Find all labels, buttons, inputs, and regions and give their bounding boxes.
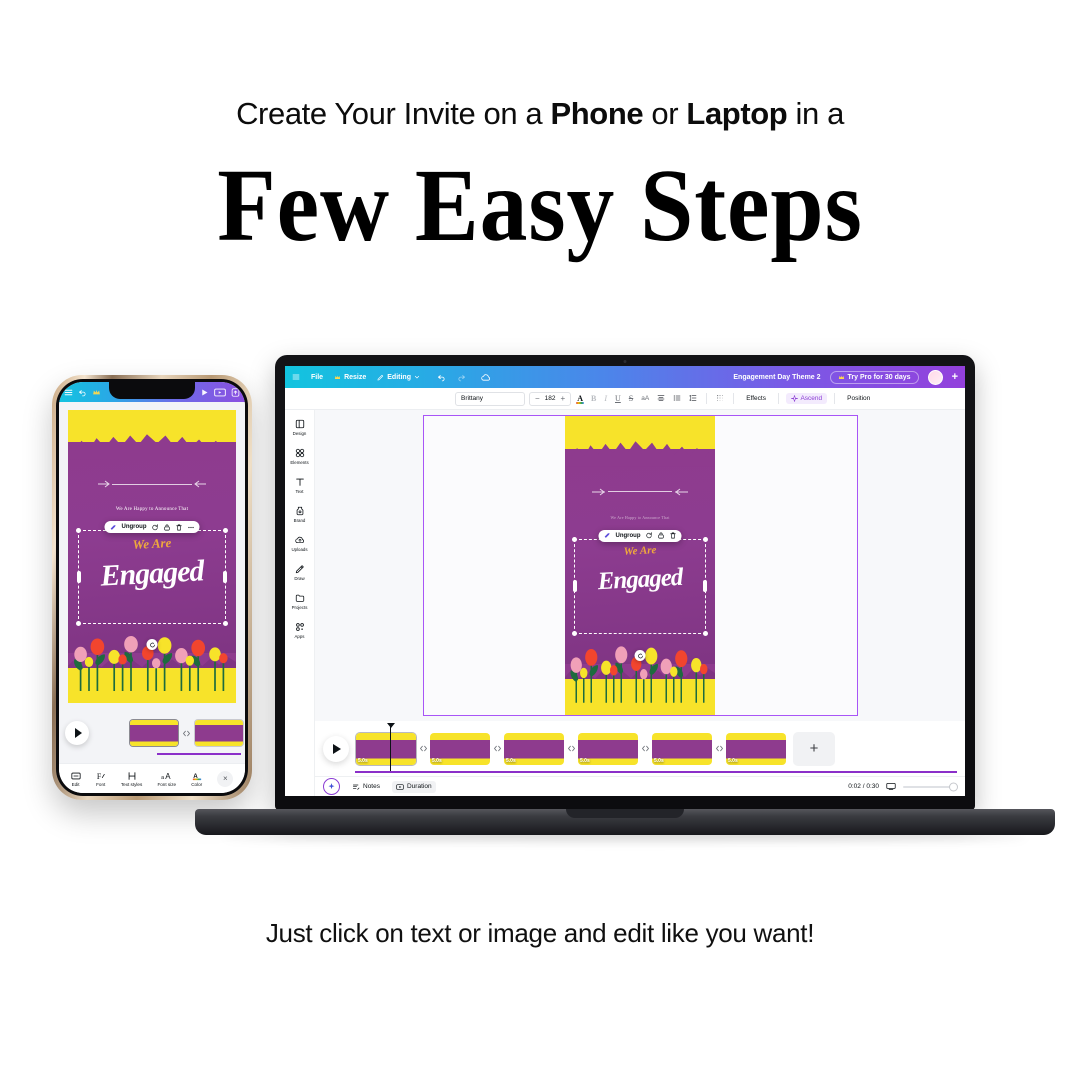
laptop-lid: File Resize Editing bbox=[275, 355, 975, 810]
page-frame[interactable]: We Are Happy to Announce That We Are Eng… bbox=[423, 415, 858, 716]
sidebar-label: Design bbox=[293, 431, 307, 436]
magic-wand-icon[interactable] bbox=[110, 524, 117, 531]
sidebar-item-elements[interactable]: Elements bbox=[285, 447, 314, 465]
time-display: 0:02 / 0:30 bbox=[848, 783, 879, 790]
toolbar-divider bbox=[834, 393, 835, 404]
brand-icon bbox=[295, 505, 305, 516]
timeline-clip[interactable]: 5.0s bbox=[725, 732, 787, 766]
phone-notch bbox=[109, 382, 195, 399]
try-pro-label: Try Pro for 30 days bbox=[848, 374, 911, 381]
notes-icon bbox=[352, 783, 360, 791]
menu-icon[interactable] bbox=[64, 388, 73, 397]
canvas-stage[interactable]: We Are Happy to Announce That We Are Eng… bbox=[315, 410, 965, 721]
text-icon bbox=[295, 476, 305, 487]
bold-button[interactable]: B bbox=[589, 394, 598, 403]
rotate-icon[interactable] bbox=[152, 524, 159, 531]
font-size-increase-button[interactable]: + bbox=[561, 394, 566, 403]
magic-wand-icon[interactable] bbox=[604, 532, 611, 539]
font-size-decrease-button[interactable]: − bbox=[535, 394, 540, 403]
cloud-sync-icon[interactable] bbox=[481, 373, 491, 382]
letter-case-button[interactable]: aA bbox=[639, 395, 651, 402]
sidebar-label: Apps bbox=[294, 634, 304, 639]
svg-text:A: A bbox=[166, 771, 172, 780]
context-toolbar[interactable]: Ungroup bbox=[105, 521, 200, 533]
laptop-camera bbox=[624, 360, 627, 363]
headline-block: Create Your Invite on a Phone or Laptop … bbox=[0, 96, 1080, 258]
crown-icon[interactable] bbox=[92, 388, 101, 397]
sidebar-label: Brand bbox=[294, 518, 306, 523]
timeline-clip[interactable]: 5.0s bbox=[503, 732, 565, 766]
undo-icon[interactable] bbox=[78, 388, 87, 397]
phone-tool-edit[interactable]: Edit bbox=[71, 770, 81, 787]
lock-icon[interactable] bbox=[658, 532, 665, 539]
font-size-stepper[interactable]: − 182 + bbox=[529, 392, 571, 406]
ungroup-label[interactable]: Ungroup bbox=[616, 533, 641, 539]
projects-icon bbox=[295, 592, 305, 603]
playhead[interactable] bbox=[390, 724, 391, 771]
headline-sub-pre: Create Your Invite on a bbox=[236, 96, 550, 131]
timeline-clip[interactable]: 5.0s bbox=[577, 732, 639, 766]
sidebar-label: Uploads bbox=[291, 547, 307, 552]
phone-tool-label: Edit bbox=[72, 782, 80, 787]
resize-handle-left[interactable] bbox=[573, 580, 577, 592]
document-title[interactable]: Engagement Day Theme 2 bbox=[733, 374, 820, 381]
timeline-clip[interactable]: 5.0s bbox=[651, 732, 713, 766]
notes-label: Notes bbox=[363, 783, 380, 790]
resize-handle-top-left[interactable] bbox=[76, 528, 81, 533]
clip-duration-label: 5.0s bbox=[728, 758, 738, 764]
apps-icon bbox=[295, 621, 305, 632]
laptop-screen: File Resize Editing bbox=[285, 366, 965, 796]
resize-button[interactable]: Resize bbox=[334, 374, 366, 381]
design-icon bbox=[295, 418, 305, 429]
draw-icon bbox=[295, 563, 305, 574]
phone-topbar-left bbox=[64, 388, 101, 397]
sidebar-item-design[interactable]: Design bbox=[285, 418, 314, 436]
font-size-value[interactable]: 182 bbox=[545, 395, 556, 402]
phone-tool-font-size[interactable]: aA Font size bbox=[157, 770, 176, 787]
more-icon[interactable] bbox=[188, 524, 195, 531]
laptop-base bbox=[195, 809, 1055, 835]
headline-bold-phone: Phone bbox=[550, 96, 643, 131]
rotate-icon[interactable] bbox=[646, 532, 653, 539]
sidebar-item-draw[interactable]: Draw bbox=[285, 563, 314, 581]
resize-label: Resize bbox=[344, 374, 366, 381]
rotate-handle-button[interactable] bbox=[147, 639, 158, 650]
selection-bounding-box[interactable] bbox=[574, 539, 706, 635]
toolbar-divider bbox=[706, 393, 707, 404]
left-sidebar: Design Elements Text Brand bbox=[285, 410, 315, 796]
play-icon[interactable] bbox=[200, 388, 209, 397]
font-icon: F bbox=[96, 770, 106, 781]
play-triangle-icon bbox=[75, 728, 82, 738]
clip-duration-label: 5.0s bbox=[580, 758, 590, 764]
hamburger-icon[interactable] bbox=[292, 373, 300, 381]
toolbar-divider bbox=[778, 393, 779, 404]
transition-icon[interactable] bbox=[417, 744, 429, 753]
phone-tool-font[interactable]: F Font bbox=[96, 770, 106, 787]
svg-text:a: a bbox=[161, 774, 164, 780]
add-page-button[interactable]: + bbox=[793, 732, 835, 766]
headline-subtitle: Create Your Invite on a Phone or Laptop … bbox=[0, 96, 1080, 132]
timeline[interactable]: 5.0s 5.0s 5.0s bbox=[315, 721, 965, 776]
resize-handle-right[interactable] bbox=[703, 580, 707, 592]
arrow-divider-decoration bbox=[592, 488, 688, 496]
zoom-slider[interactable] bbox=[903, 786, 957, 788]
edit-icon bbox=[71, 770, 81, 781]
transition-icon[interactable] bbox=[565, 744, 577, 753]
timeline-clip[interactable]: 5.0s bbox=[429, 732, 491, 766]
sidebar-label: Projects bbox=[292, 605, 308, 610]
file-menu-button[interactable]: File bbox=[311, 374, 323, 381]
effects-button[interactable]: Effects bbox=[741, 393, 771, 404]
add-collaborator-button[interactable]: + bbox=[952, 371, 958, 383]
editor-main: We Are Happy to Announce That We Are Eng… bbox=[315, 410, 965, 796]
resize-handle-bottom-left[interactable] bbox=[76, 621, 81, 626]
page-title: Few Easy Steps bbox=[43, 154, 1037, 258]
notes-button[interactable]: Notes bbox=[348, 781, 384, 793]
transition-icon[interactable] bbox=[182, 729, 191, 738]
present-icon[interactable] bbox=[214, 388, 226, 397]
status-bar: Notes Duration 0:02 / 0:30 bbox=[315, 776, 965, 796]
sidebar-label: Text bbox=[295, 489, 303, 494]
duration-button[interactable]: Duration bbox=[392, 781, 436, 793]
transition-icon[interactable] bbox=[491, 744, 503, 753]
uploads-icon bbox=[295, 534, 305, 545]
transition-icon[interactable] bbox=[639, 744, 651, 753]
redo-icon[interactable] bbox=[457, 373, 466, 382]
duration-label: Duration bbox=[407, 783, 432, 790]
play-triangle-icon bbox=[333, 744, 341, 754]
font-family-input[interactable]: Brittany bbox=[455, 392, 525, 406]
present-icon[interactable] bbox=[886, 778, 896, 796]
phone-tool-label: Font size bbox=[157, 782, 176, 787]
text-color-icon[interactable]: A bbox=[575, 394, 585, 403]
magic-studio-icon[interactable] bbox=[323, 778, 340, 795]
trash-icon[interactable] bbox=[670, 532, 677, 539]
animate-label: Ascend bbox=[800, 395, 822, 402]
text-styles-icon bbox=[127, 770, 137, 781]
animate-icon bbox=[791, 395, 798, 402]
bottom-caption: Just click on text or image and edit lik… bbox=[0, 918, 1080, 949]
timeline-progress-bar[interactable] bbox=[355, 771, 957, 773]
resize-handle-left[interactable] bbox=[77, 571, 81, 583]
underline-button[interactable]: U bbox=[613, 394, 623, 403]
phone-tool-label: Text styles bbox=[121, 782, 142, 787]
sidebar-label: Elements bbox=[290, 460, 308, 465]
timeline-play-button[interactable] bbox=[323, 736, 349, 762]
app-body: Design Elements Text Brand bbox=[285, 410, 965, 796]
chevron-down-icon bbox=[414, 374, 420, 380]
resize-handle-top-right[interactable] bbox=[703, 537, 708, 542]
line-spacing-icon[interactable] bbox=[687, 394, 699, 404]
timeline-clip[interactable]: 5.0s bbox=[355, 732, 417, 766]
flowers-decoration bbox=[565, 625, 715, 703]
headline-sub-post: in a bbox=[787, 96, 844, 131]
duration-icon bbox=[396, 783, 404, 791]
headline-sub-mid: or bbox=[643, 96, 686, 131]
trash-icon[interactable] bbox=[176, 524, 183, 531]
phone-play-button[interactable] bbox=[65, 721, 89, 745]
strikethrough-button[interactable]: S bbox=[627, 394, 635, 403]
rotate-handle-button[interactable] bbox=[635, 650, 646, 661]
clip-duration-label: 5.0s bbox=[358, 758, 368, 764]
align-icon[interactable] bbox=[655, 394, 667, 404]
context-toolbar[interactable]: Ungroup bbox=[599, 530, 682, 542]
try-pro-button[interactable]: Try Pro for 30 days bbox=[830, 371, 919, 384]
top-bar-right-group: Engagement Day Theme 2 Try Pro for 30 da… bbox=[733, 370, 958, 385]
poster-announce-text[interactable]: We Are Happy to Announce That bbox=[574, 515, 706, 520]
top-bar-left-group: File Resize Editing bbox=[292, 373, 491, 382]
sidebar-item-brand[interactable]: Brand bbox=[285, 505, 314, 523]
phone-tool-text-styles[interactable]: Text styles bbox=[121, 770, 142, 787]
transparency-icon[interactable] bbox=[714, 394, 726, 404]
phone-tool-label: Font bbox=[96, 782, 105, 787]
clip-duration-label: 5.0s bbox=[654, 758, 664, 764]
clip-duration-label: 5.0s bbox=[432, 758, 442, 764]
app-top-bar: File Resize Editing bbox=[285, 366, 965, 388]
torn-edge-top-overlay bbox=[565, 440, 715, 467]
editing-mode-button[interactable]: Editing bbox=[377, 374, 420, 381]
clip-strip[interactable]: 5.0s 5.0s 5.0s bbox=[355, 732, 835, 766]
share-icon[interactable] bbox=[231, 388, 240, 397]
sidebar-item-text[interactable]: Text bbox=[285, 476, 314, 494]
transition-icon[interactable] bbox=[713, 744, 725, 753]
position-button[interactable]: Position bbox=[842, 393, 875, 404]
sidebar-item-projects[interactable]: Projects bbox=[285, 592, 314, 610]
status-bar-right: 0:02 / 0:30 bbox=[848, 778, 957, 796]
text-format-toolbar: Brittany − 182 + A B I U S aA Effects bbox=[285, 388, 965, 410]
clip-duration-label: 5.0s bbox=[506, 758, 516, 764]
elements-icon bbox=[295, 447, 305, 458]
svg-text:F: F bbox=[97, 771, 102, 780]
avatar[interactable] bbox=[928, 370, 943, 385]
sidebar-item-apps[interactable]: Apps bbox=[285, 621, 314, 639]
font-size-icon: aA bbox=[161, 770, 172, 781]
undo-icon[interactable] bbox=[437, 373, 446, 382]
resize-handle-top-left[interactable] bbox=[572, 537, 577, 542]
animate-button[interactable]: Ascend bbox=[786, 393, 827, 404]
lock-icon[interactable] bbox=[164, 524, 171, 531]
laptop-mockup: File Resize Editing bbox=[195, 355, 1055, 835]
arrow-divider-decoration bbox=[98, 480, 206, 488]
sidebar-item-uploads[interactable]: Uploads bbox=[285, 534, 314, 552]
bullet-list-icon[interactable] bbox=[671, 394, 683, 404]
poster-design[interactable]: We Are Happy to Announce That We Are Eng… bbox=[565, 416, 715, 715]
phone-clip-thumbnail[interactable] bbox=[129, 719, 179, 747]
sidebar-label: Draw bbox=[294, 576, 304, 581]
toolbar-divider bbox=[733, 393, 734, 404]
headline-bold-laptop: Laptop bbox=[686, 96, 787, 131]
editing-label: Editing bbox=[387, 374, 411, 381]
ungroup-label[interactable]: Ungroup bbox=[122, 524, 147, 530]
italic-button[interactable]: I bbox=[602, 394, 609, 403]
zoom-slider-knob[interactable] bbox=[950, 783, 957, 790]
